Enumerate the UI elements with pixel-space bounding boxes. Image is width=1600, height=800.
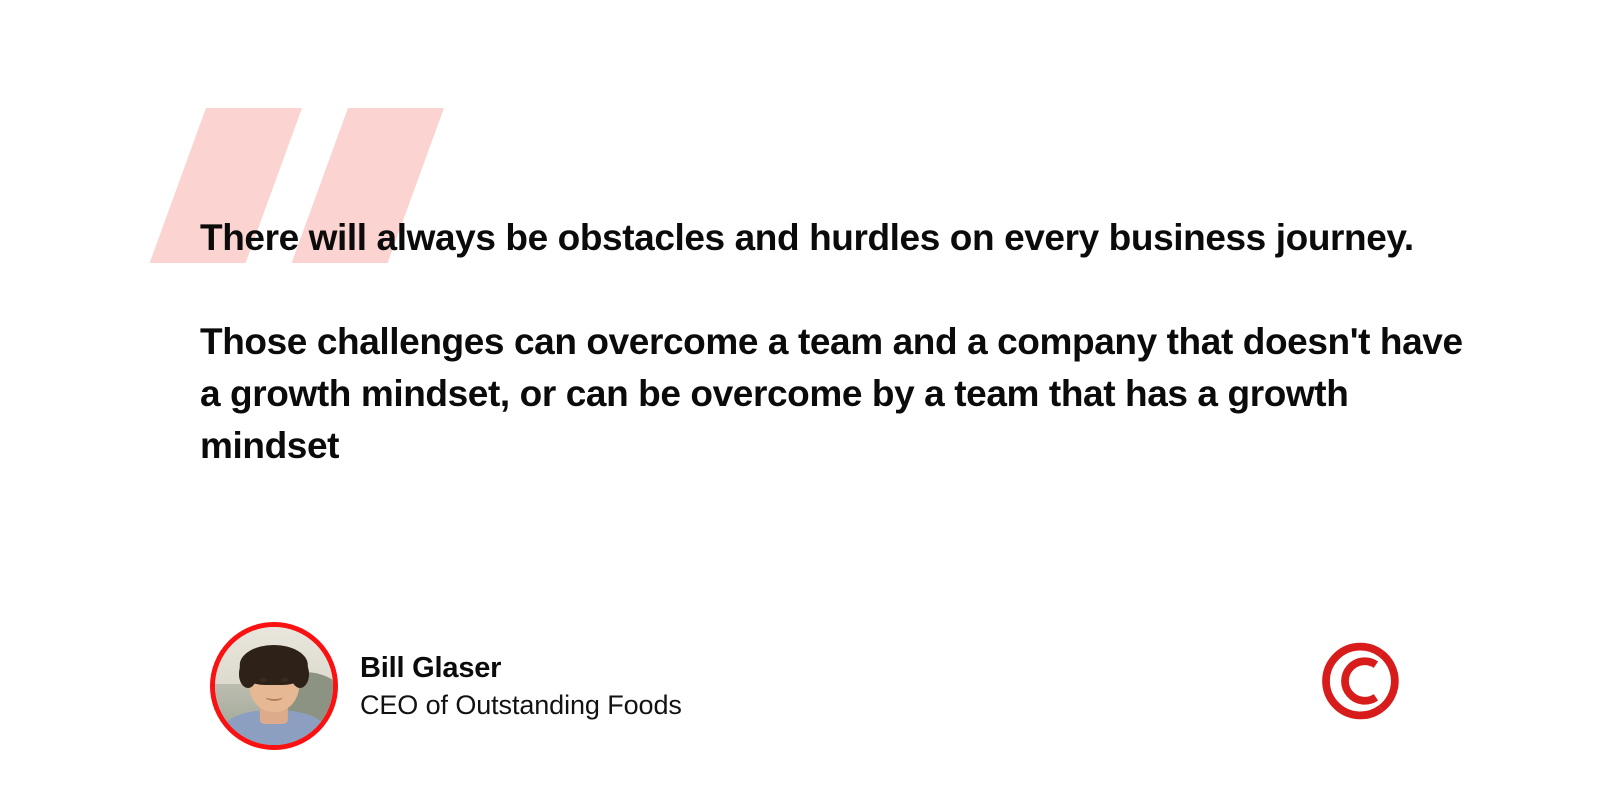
avatar	[210, 622, 338, 750]
double-c-logo-icon	[1314, 638, 1400, 724]
quote-paragraph-2: Those challenges can overcome a team and…	[200, 316, 1470, 472]
quote-paragraph-1: There will always be obstacles and hurdl…	[200, 212, 1470, 264]
testimonial-quote-card: There will always be obstacles and hurdl…	[0, 0, 1600, 800]
attribution-text: Bill Glaser CEO of Outstanding Foods	[360, 649, 682, 723]
person-name: Bill Glaser	[360, 649, 682, 687]
avatar-smile	[266, 693, 283, 701]
attribution: Bill Glaser CEO of Outstanding Foods	[210, 622, 682, 750]
person-role: CEO of Outstanding Foods	[360, 687, 682, 723]
avatar-eye-right	[281, 678, 288, 682]
quote-body: There will always be obstacles and hurdl…	[200, 212, 1470, 472]
avatar-eye-left	[260, 678, 267, 682]
